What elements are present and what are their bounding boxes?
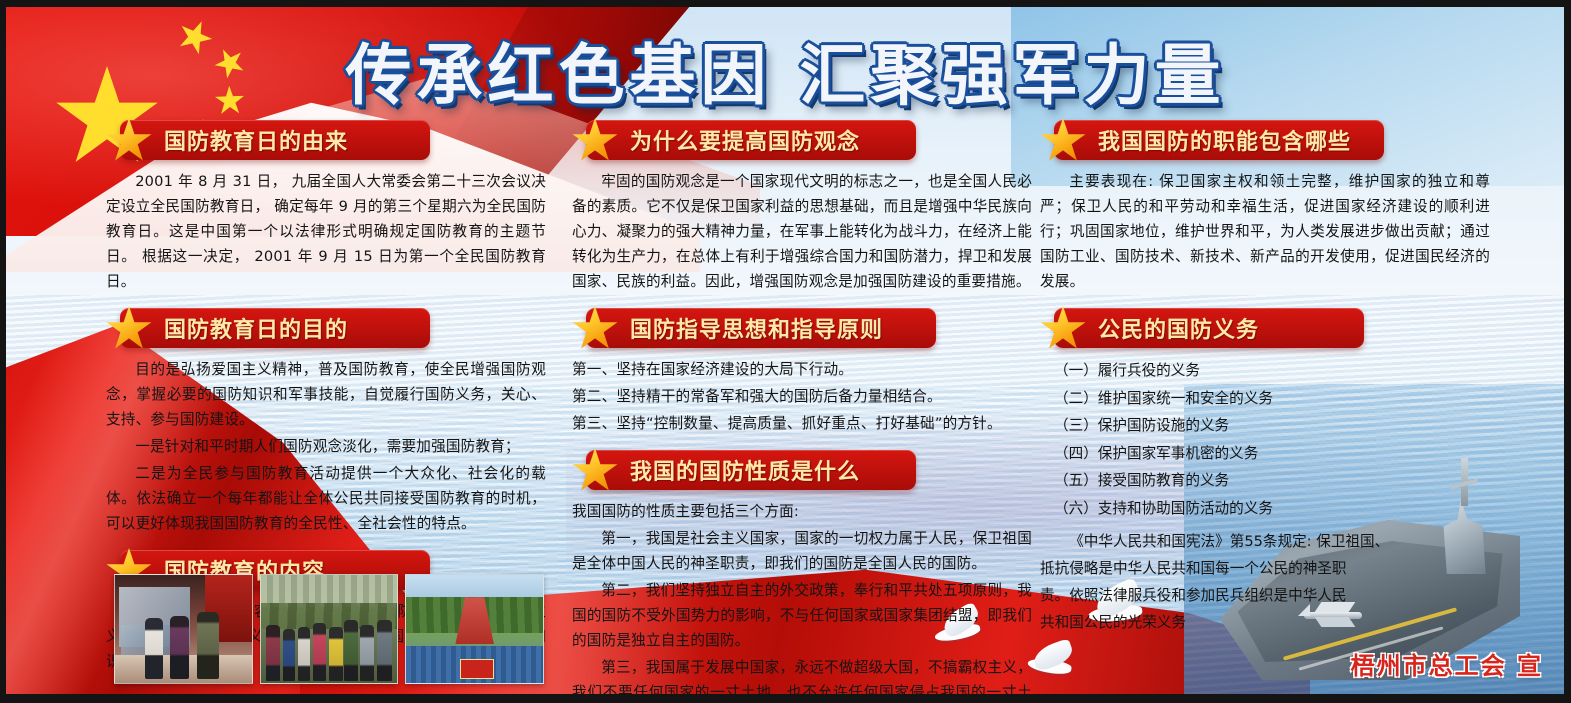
photo-person <box>329 627 343 681</box>
section-paragraph: 主要表现在: 保卫国家主权和领土完整，维护国家的独立和尊严；保卫人民的和平劳动和… <box>1040 169 1490 294</box>
section-banner-defense-nature: 我国的国防性质是什么 <box>572 450 1032 490</box>
page-title: 传承红色基因 汇聚强军力量 <box>340 22 1232 118</box>
photo-person <box>283 629 295 681</box>
list-item: （五）接受国防教育的义务 <box>1040 467 1490 495</box>
section-why-raise-awareness: 为什么要提高国防观念 牢固的国防观念是一个国家现代文明的标志之一，也是全国人民必… <box>572 120 1032 294</box>
column-middle: 为什么要提高国防观念 牢固的国防观念是一个国家现代文明的标志之一，也是全国人民必… <box>572 120 1032 703</box>
section-guiding-principles: 国防指导思想和指导原则 第一、坚持在国家经济建设的大局下行动。 第二、坚持精干的… <box>572 308 1032 436</box>
defense-education-poster: 传承红色基因 汇聚强军力量 国防教育日的由来 2001 年 8 月 31 日， … <box>0 0 1571 703</box>
section-banner-defense-functions: 我国国防的职能包含哪些 <box>1040 120 1490 160</box>
section-heading: 国防教育日的目的 <box>164 312 348 344</box>
photo-person <box>266 625 280 681</box>
quote-line: 《中华人民共和国宪法》第55条规定: 保卫祖国、 <box>1040 528 1490 555</box>
section-heading: 国防指导思想和指导原则 <box>630 312 883 344</box>
photo-person <box>197 612 219 679</box>
section-paragraph: 二是为全民参与国防教育活动提供一个大众化、社会化的载体。依法确立一个每年都能让全… <box>106 461 546 536</box>
list-item: （一）履行兵役的义务 <box>1040 357 1490 385</box>
section-origin-of-day: 国防教育日的由来 2001 年 8 月 31 日， 九届全国人大常委会第二十三次… <box>106 120 546 294</box>
constitution-quote: 《中华人民共和国宪法》第55条规定: 保卫祖国、 抵抗侵略是中华人民共和国每一个… <box>1040 528 1490 636</box>
photo-monument-group <box>405 574 544 684</box>
section-purpose-of-day: 国防教育日的目的 目的是弘扬爱国主义精神，普及国防教育，使全民增强国防观念，掌握… <box>106 308 546 536</box>
section-heading: 我国的国防性质是什么 <box>630 454 860 486</box>
section-banner-origin: 国防教育日的由来 <box>106 120 546 160</box>
section-paragraph: 我国国防的性质主要包括三个方面: <box>572 499 1032 524</box>
section-paragraph: 一是针对和平时期人们国防观念淡化，需要加强国防教育； <box>106 434 546 459</box>
section-heading: 我国国防的职能包含哪些 <box>1098 124 1351 156</box>
list-item: （二）维护国家统一和安全的义务 <box>1040 385 1490 413</box>
section-heading: 国防教育日的由来 <box>164 124 348 156</box>
poster-title-area: 传承红色基因 汇聚强军力量 <box>0 22 1571 112</box>
section-banner-guiding-principles: 国防指导思想和指导原则 <box>572 308 1032 348</box>
quote-line: 抵抗侵略是中华人民共和国每一个公民的神圣职 <box>1040 555 1490 582</box>
section-defense-functions: 我国国防的职能包含哪些 主要表现在: 保卫国家主权和领土完整，维护国家的独立和尊… <box>1040 120 1490 294</box>
section-paragraph: 第三、坚持“控制数量、提高质量、抓好重点、打好基础”的方针。 <box>572 411 1032 436</box>
quote-line: 责。依照法律服兵役和参加民兵组织是中华人民 <box>1040 582 1490 609</box>
list-item: （六）支持和协助国防活动的义务 <box>1040 495 1490 523</box>
section-defense-nature: 我国的国防性质是什么 我国国防的性质主要包括三个方面: 第一，我国是社会主义国家… <box>572 450 1032 703</box>
photo-group-banner <box>460 659 495 678</box>
photo-person <box>313 623 327 681</box>
photo-person <box>170 616 189 679</box>
section-citizen-duties: 公民的国防义务 （一）履行兵役的义务 （二）维护国家统一和安全的义务 （三）保护… <box>1040 308 1490 636</box>
photo-person <box>377 620 392 680</box>
frame-border-bottom <box>0 694 1571 703</box>
photo-person <box>344 620 358 680</box>
section-banner-citizen-duties: 公民的国防义务 <box>1040 308 1490 348</box>
section-paragraph: 第二，我们坚持独立自主的外交政策，奉行和平共处五项原则，我国的国防不受外国势力的… <box>572 578 1032 653</box>
section-paragraph: 第一，我国是社会主义国家，国家的一切权力属于人民，保卫祖国是全体中国人民的神圣职… <box>572 526 1032 576</box>
section-paragraph: 2001 年 8 月 31 日， 九届全国人大常委会第二十三次会议决定设立全民国… <box>106 169 546 294</box>
frame-border-right <box>1564 0 1571 703</box>
frame-border-left <box>0 0 6 703</box>
section-banner-purpose: 国防教育日的目的 <box>106 308 546 348</box>
section-paragraph: 牢固的国防观念是一个国家现代文明的标志之一，也是全国人民必备的素质。它不仅是保卫… <box>572 169 1032 294</box>
photo-strip <box>114 574 544 684</box>
photo-person <box>360 625 374 681</box>
photo-outdoor-crowd <box>260 574 399 684</box>
organization-signature: 梧州市总工会 宣 <box>1351 646 1543 681</box>
photo-person <box>145 618 163 678</box>
photo-exhibition-hall <box>114 574 253 684</box>
list-item: （三）保护国防设施的义务 <box>1040 412 1490 440</box>
section-paragraph: 第一、坚持在国家经济建设的大局下行动。 <box>572 357 1032 382</box>
section-heading: 公民的国防义务 <box>1098 312 1259 344</box>
list-item: （四）保护国家军事机密的义务 <box>1040 440 1490 468</box>
frame-border-top <box>0 0 1571 7</box>
photo-person <box>298 627 310 681</box>
section-banner-why-awareness: 为什么要提高国防观念 <box>572 120 1032 160</box>
column-right: 我国国防的职能包含哪些 主要表现在: 保卫国家主权和领土完整，维护国家的独立和尊… <box>1040 120 1490 650</box>
quote-line: 共和国公民的光荣义务 <box>1040 609 1490 636</box>
citizen-duty-list: （一）履行兵役的义务 （二）维护国家统一和安全的义务 （三）保护国防设施的义务 … <box>1040 357 1490 522</box>
section-paragraph: 目的是弘扬爱国主义精神，普及国防教育，使全民增强国防观念，掌握必要的国防知识和军… <box>106 357 546 432</box>
section-heading: 为什么要提高国防观念 <box>630 124 860 156</box>
section-paragraph: 第二、坚持精干的常备军和强大的国防后备力量相结合。 <box>572 384 1032 409</box>
